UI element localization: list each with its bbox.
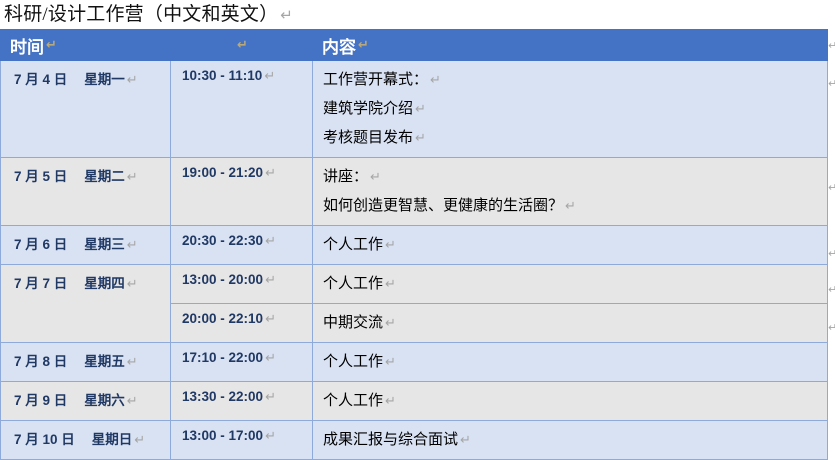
date-day: 7 月 4 日 — [14, 72, 67, 87]
header-cell-time: 时间↵ — [1, 30, 171, 61]
content-cell: 成果汇报与综合面试↵ — [313, 421, 828, 460]
pilcrow-icon: ↵ — [828, 248, 835, 259]
date-cell: 7 月 7 日星期四↵ — [1, 265, 171, 343]
time-cell: 20:30 - 22:30↵ — [171, 226, 313, 265]
pilcrow-icon: ↵ — [356, 38, 369, 53]
table-row: 7 月 9 日星期六↵13:30 - 22:00↵个人工作↵ — [1, 382, 828, 421]
pilcrow-icon: ↵ — [413, 102, 426, 117]
content-line-text: 工作营开幕式： — [323, 72, 428, 88]
date-weekday: 星期五 — [84, 354, 125, 369]
date-cell: 7 月 4 日星期一↵ — [1, 61, 171, 158]
pilcrow-icon: ↵ — [125, 238, 138, 253]
content-cell: 个人工作↵ — [313, 226, 828, 265]
time-cell: 19:00 - 21:20↵ — [171, 158, 313, 226]
date-weekday: 星期三 — [84, 237, 125, 252]
pilcrow-icon: ↵ — [263, 351, 276, 366]
time-cell: 13:00 - 17:00↵ — [171, 421, 313, 460]
time-range: 17:10 - 22:00 — [182, 350, 263, 365]
time-range: 20:30 - 22:30 — [182, 233, 263, 248]
header-cell-content: 内容↵ — [313, 30, 828, 61]
header-label-content: 内容 — [322, 33, 356, 58]
pilcrow-icon: ↵ — [278, 6, 293, 24]
table-row: 7 月 7 日星期四↵13:00 - 20:00↵个人工作↵ — [1, 265, 828, 304]
date-weekday: 星期日 — [92, 432, 133, 447]
pilcrow-icon: ↵ — [125, 73, 138, 88]
pilcrow-icon: ↵ — [828, 322, 835, 333]
date-day: 7 月 9 日 — [14, 393, 67, 408]
time-cell: 17:10 - 22:00↵ — [171, 343, 313, 382]
table-header: 时间↵ ↵ 内容↵ — [1, 30, 828, 61]
content-line: 个人工作↵ — [323, 348, 827, 377]
pilcrow-icon: ↵ — [44, 38, 57, 53]
table-body: 7 月 4 日星期一↵10:30 - 11:10↵工作营开幕式：↵建筑学院介绍↵… — [1, 61, 828, 460]
table-row: 7 月 5 日星期二↵19:00 - 21:20↵讲座：↵如何创造更智慧、更健康… — [1, 158, 828, 226]
table-row: 7 月 10 日星期日↵13:00 - 17:00↵成果汇报与综合面试↵ — [1, 421, 828, 460]
content-line-text: 建筑学院介绍 — [323, 101, 413, 117]
table-row: 7 月 4 日星期一↵10:30 - 11:10↵工作营开幕式：↵建筑学院介绍↵… — [1, 61, 828, 158]
time-range: 19:00 - 21:20 — [182, 165, 263, 180]
pilcrow-icon: ↵ — [263, 312, 276, 327]
pilcrow-icon: ↵ — [828, 78, 835, 89]
document-page: 科研/设计工作营（中文和英文）↵ 时间↵ ↵ — [0, 0, 835, 422]
content-cell: 工作营开幕式：↵建筑学院介绍↵考核题目发布↵ — [313, 61, 828, 158]
page-title: 科研/设计工作营（中文和英文）↵ — [0, 0, 835, 29]
content-line-text: 个人工作 — [323, 276, 383, 292]
content-line-text: 个人工作 — [323, 237, 383, 253]
pilcrow-icon: ↵ — [125, 170, 138, 185]
content-line-text: 成果汇报与综合面试 — [323, 432, 458, 448]
pilcrow-icon: ↵ — [263, 390, 276, 405]
pilcrow-icon: ↵ — [383, 394, 396, 409]
content-line: 个人工作↵ — [323, 387, 827, 416]
pilcrow-icon: ↵ — [458, 433, 471, 448]
pilcrow-icon: ↵ — [263, 273, 276, 288]
date-weekday: 星期六 — [84, 393, 125, 408]
pilcrow-icon: ↵ — [262, 69, 275, 84]
pilcrow-icon: ↵ — [263, 166, 276, 181]
pilcrow-icon: ↵ — [383, 355, 396, 370]
pilcrow-icon: ↵ — [828, 284, 835, 295]
time-range: 13:00 - 20:00 — [182, 272, 263, 287]
content-line: 如何创造更智慧、更健康的生活圈？↵ — [323, 192, 827, 221]
date-day: 7 月 7 日 — [14, 276, 67, 291]
content-line: 建筑学院介绍↵ — [323, 95, 827, 124]
content-line: 成果汇报与综合面试↵ — [323, 426, 827, 455]
content-line-text: 考核题目发布 — [323, 130, 413, 146]
content-line-text: 中期交流 — [323, 315, 383, 331]
date-weekday: 星期四 — [84, 276, 125, 291]
pilcrow-icon: ↵ — [125, 355, 138, 370]
date-day: 7 月 10 日 — [14, 432, 75, 447]
content-line-text: 个人工作 — [323, 354, 383, 370]
pilcrow-icon: ↵ — [132, 433, 145, 448]
date-cell: 7 月 10 日星期日↵ — [1, 421, 171, 460]
pilcrow-icon: ↵ — [235, 38, 248, 53]
pilcrow-icon: ↵ — [383, 238, 396, 253]
pilcrow-icon: ↵ — [563, 199, 576, 214]
header-cell-middle: ↵ — [171, 30, 313, 61]
content-line: 个人工作↵ — [323, 270, 827, 299]
pilcrow-icon: ↵ — [383, 316, 396, 331]
content-cell: 讲座：↵如何创造更智慧、更健康的生活圈？↵ — [313, 158, 828, 226]
pilcrow-icon: ↵ — [828, 182, 835, 193]
pilcrow-icon: ↵ — [413, 131, 426, 146]
content-line: 工作营开幕式：↵ — [323, 66, 827, 95]
table-row: 7 月 6 日星期三↵20:30 - 22:30↵个人工作↵ — [1, 226, 828, 265]
content-cell: 个人工作↵ — [313, 265, 828, 304]
content-cell: 个人工作↵ — [313, 343, 828, 382]
pilcrow-icon: ↵ — [383, 277, 396, 292]
content-line: 个人工作↵ — [323, 231, 827, 260]
content-line-text: 如何创造更智慧、更健康的生活圈？ — [323, 198, 563, 214]
time-range: 20:00 - 22:10 — [182, 311, 263, 326]
pilcrow-icon: ↵ — [125, 277, 138, 292]
page-title-text: 科研/设计工作营（中文和英文） — [4, 4, 278, 25]
pilcrow-icon: ↵ — [828, 40, 835, 51]
schedule-table: 时间↵ ↵ 内容↵ 7 月 4 日星期一↵10:30 - 11:10↵工作营开幕… — [0, 29, 828, 460]
time-range: 13:00 - 17:00 — [182, 428, 263, 443]
date-day: 7 月 8 日 — [14, 354, 67, 369]
time-cell: 13:00 - 20:00↵ — [171, 265, 313, 304]
content-line: 讲座：↵ — [323, 163, 827, 192]
date-cell: 7 月 6 日星期三↵ — [1, 226, 171, 265]
content-line: 考核题目发布↵ — [323, 124, 827, 153]
date-cell: 7 月 5 日星期二↵ — [1, 158, 171, 226]
time-cell: 10:30 - 11:10↵ — [171, 61, 313, 158]
header-row: 时间↵ ↵ 内容↵ — [1, 30, 828, 61]
pilcrow-icon: ↵ — [125, 394, 138, 409]
table-row: 7 月 8 日星期五↵17:10 - 22:00↵个人工作↵ — [1, 343, 828, 382]
time-cell: 20:00 - 22:10↵ — [171, 304, 313, 343]
pilcrow-icon: ↵ — [368, 170, 381, 185]
pilcrow-icon: ↵ — [428, 73, 441, 88]
pilcrow-icon: ↵ — [263, 429, 276, 444]
content-cell: 个人工作↵ — [313, 382, 828, 421]
date-day: 7 月 5 日 — [14, 169, 67, 184]
content-line: 中期交流↵ — [323, 309, 827, 338]
date-weekday: 星期一 — [84, 72, 125, 87]
date-cell: 7 月 8 日星期五↵ — [1, 343, 171, 382]
content-line-text: 个人工作 — [323, 393, 383, 409]
date-weekday: 星期二 — [84, 169, 125, 184]
header-label-time: 时间 — [10, 33, 44, 58]
pilcrow-icon: ↵ — [263, 234, 276, 249]
date-day: 7 月 6 日 — [14, 237, 67, 252]
content-cell: 中期交流↵ — [313, 304, 828, 343]
time-cell: 13:30 - 22:00↵ — [171, 382, 313, 421]
time-range: 13:30 - 22:00 — [182, 389, 263, 404]
time-range: 10:30 - 11:10 — [182, 68, 262, 83]
content-line-text: 讲座： — [323, 169, 368, 185]
date-cell: 7 月 9 日星期六↵ — [1, 382, 171, 421]
